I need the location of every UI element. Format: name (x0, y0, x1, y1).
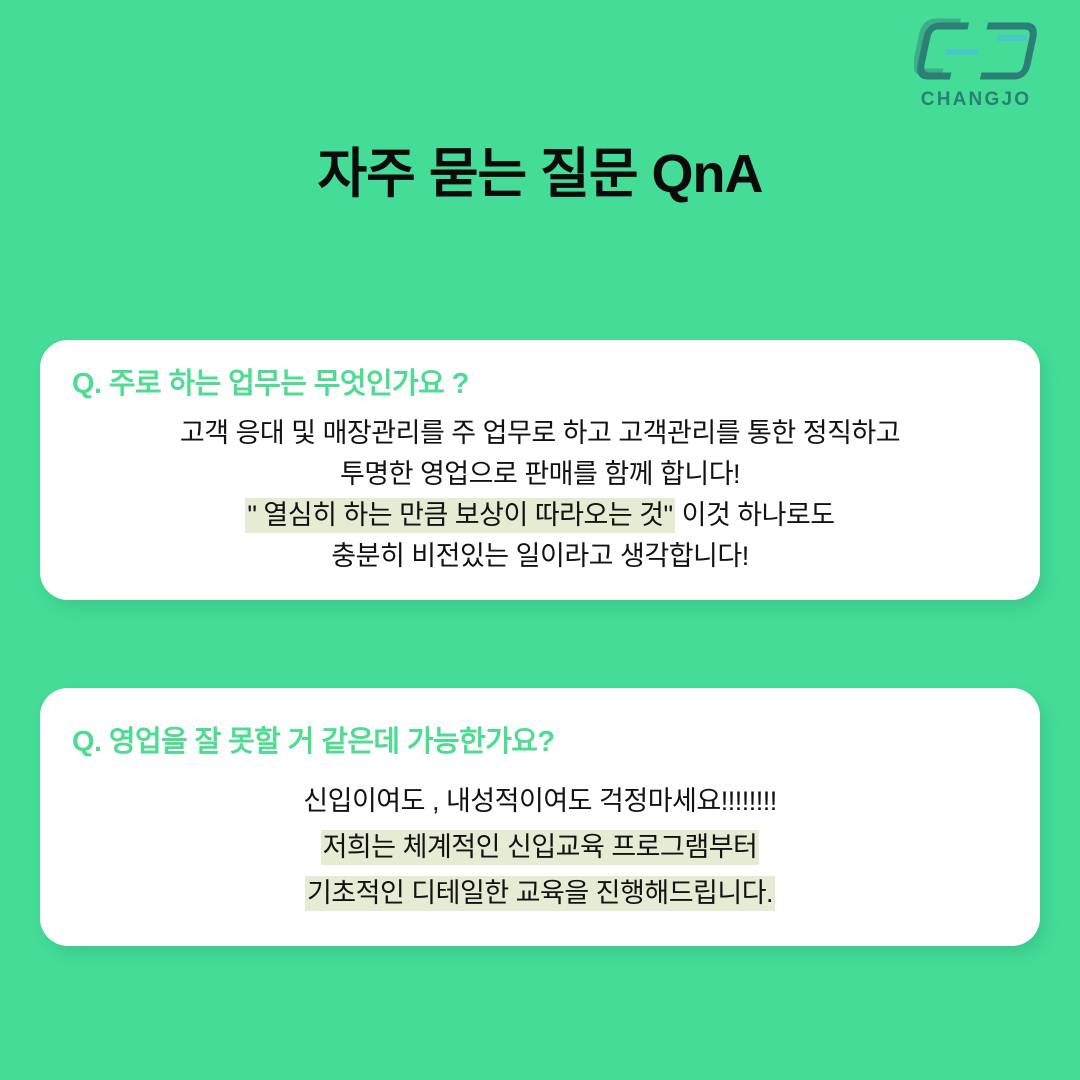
faq-answer-line: " 열심히 하는 만큼 보상이 따라오는 것" 이것 하나로도 (40, 495, 1040, 536)
faq-answer-line: 충분히 비전있는 일이라고 생각합니다! (40, 536, 1040, 577)
faq-answer-line: 저희는 체계적인 신입교육 프로그램부터 (40, 824, 1040, 870)
changjo-logo: CHANGJO (914, 18, 1038, 118)
page-title: 자주 묻는 질문 QnA (0, 142, 1080, 206)
faq-answer-line: 투명한 영업으로 판매를 함께 합니다! (40, 454, 1040, 495)
answer-text: 투명한 영업으로 판매를 함께 합니다! (340, 459, 740, 489)
faq-answer: 고객 응대 및 매장관리를 주 업무로 하고 고객관리를 통한 정직하고투명한 … (40, 413, 1040, 577)
answer-text: 고객 응대 및 매장관리를 주 업무로 하고 고객관리를 통한 정직하고 (180, 418, 900, 448)
faq-answer-line: 기초적인 디테일한 교육을 진행해드립니다. (40, 870, 1040, 916)
highlighted-text: " 열심히 하는 만큼 보상이 따라오는 것" (245, 498, 674, 533)
faq-page: CHANGJO 자주 묻는 질문 QnA Q. 주로 하는 업무는 무엇인가요 … (0, 0, 1080, 1080)
brand-wordmark: CHANGJO (914, 88, 1038, 112)
faq-question: Q. 주로 하는 업무는 무엇인가요 ? (72, 360, 469, 402)
highlighted-text: 저희는 체계적인 신입교육 프로그램부터 (321, 830, 760, 865)
faq-answer-line: 고객 응대 및 매장관리를 주 업무로 하고 고객관리를 통한 정직하고 (40, 413, 1040, 454)
highlighted-text: 기초적인 디테일한 교육을 진행해드립니다. (305, 876, 775, 911)
answer-text: 이것 하나로도 (675, 500, 835, 530)
answer-text: 신입이여도 , 내성적이여도 걱정마세요!!!!!!!! (303, 786, 776, 816)
faq-answer: 신입이여도 , 내성적이여도 걱정마세요!!!!!!!!저희는 체계적인 신입교… (40, 778, 1040, 916)
faq-card: Q. 주로 하는 업무는 무엇인가요 ? 고객 응대 및 매장관리를 주 업무로… (40, 340, 1040, 600)
faq-card: Q. 영업을 잘 못할 거 같은데 가능한가요? 신입이여도 , 내성적이여도 … (40, 688, 1040, 946)
faq-answer-line: 신입이여도 , 내성적이여도 걱정마세요!!!!!!!! (40, 778, 1040, 824)
changjo-cj-monogram-icon (914, 18, 1038, 88)
faq-question: Q. 영업을 잘 못할 거 같은데 가능한가요? (72, 718, 554, 760)
answer-text: 충분히 비전있는 일이라고 생각합니다! (331, 541, 748, 571)
